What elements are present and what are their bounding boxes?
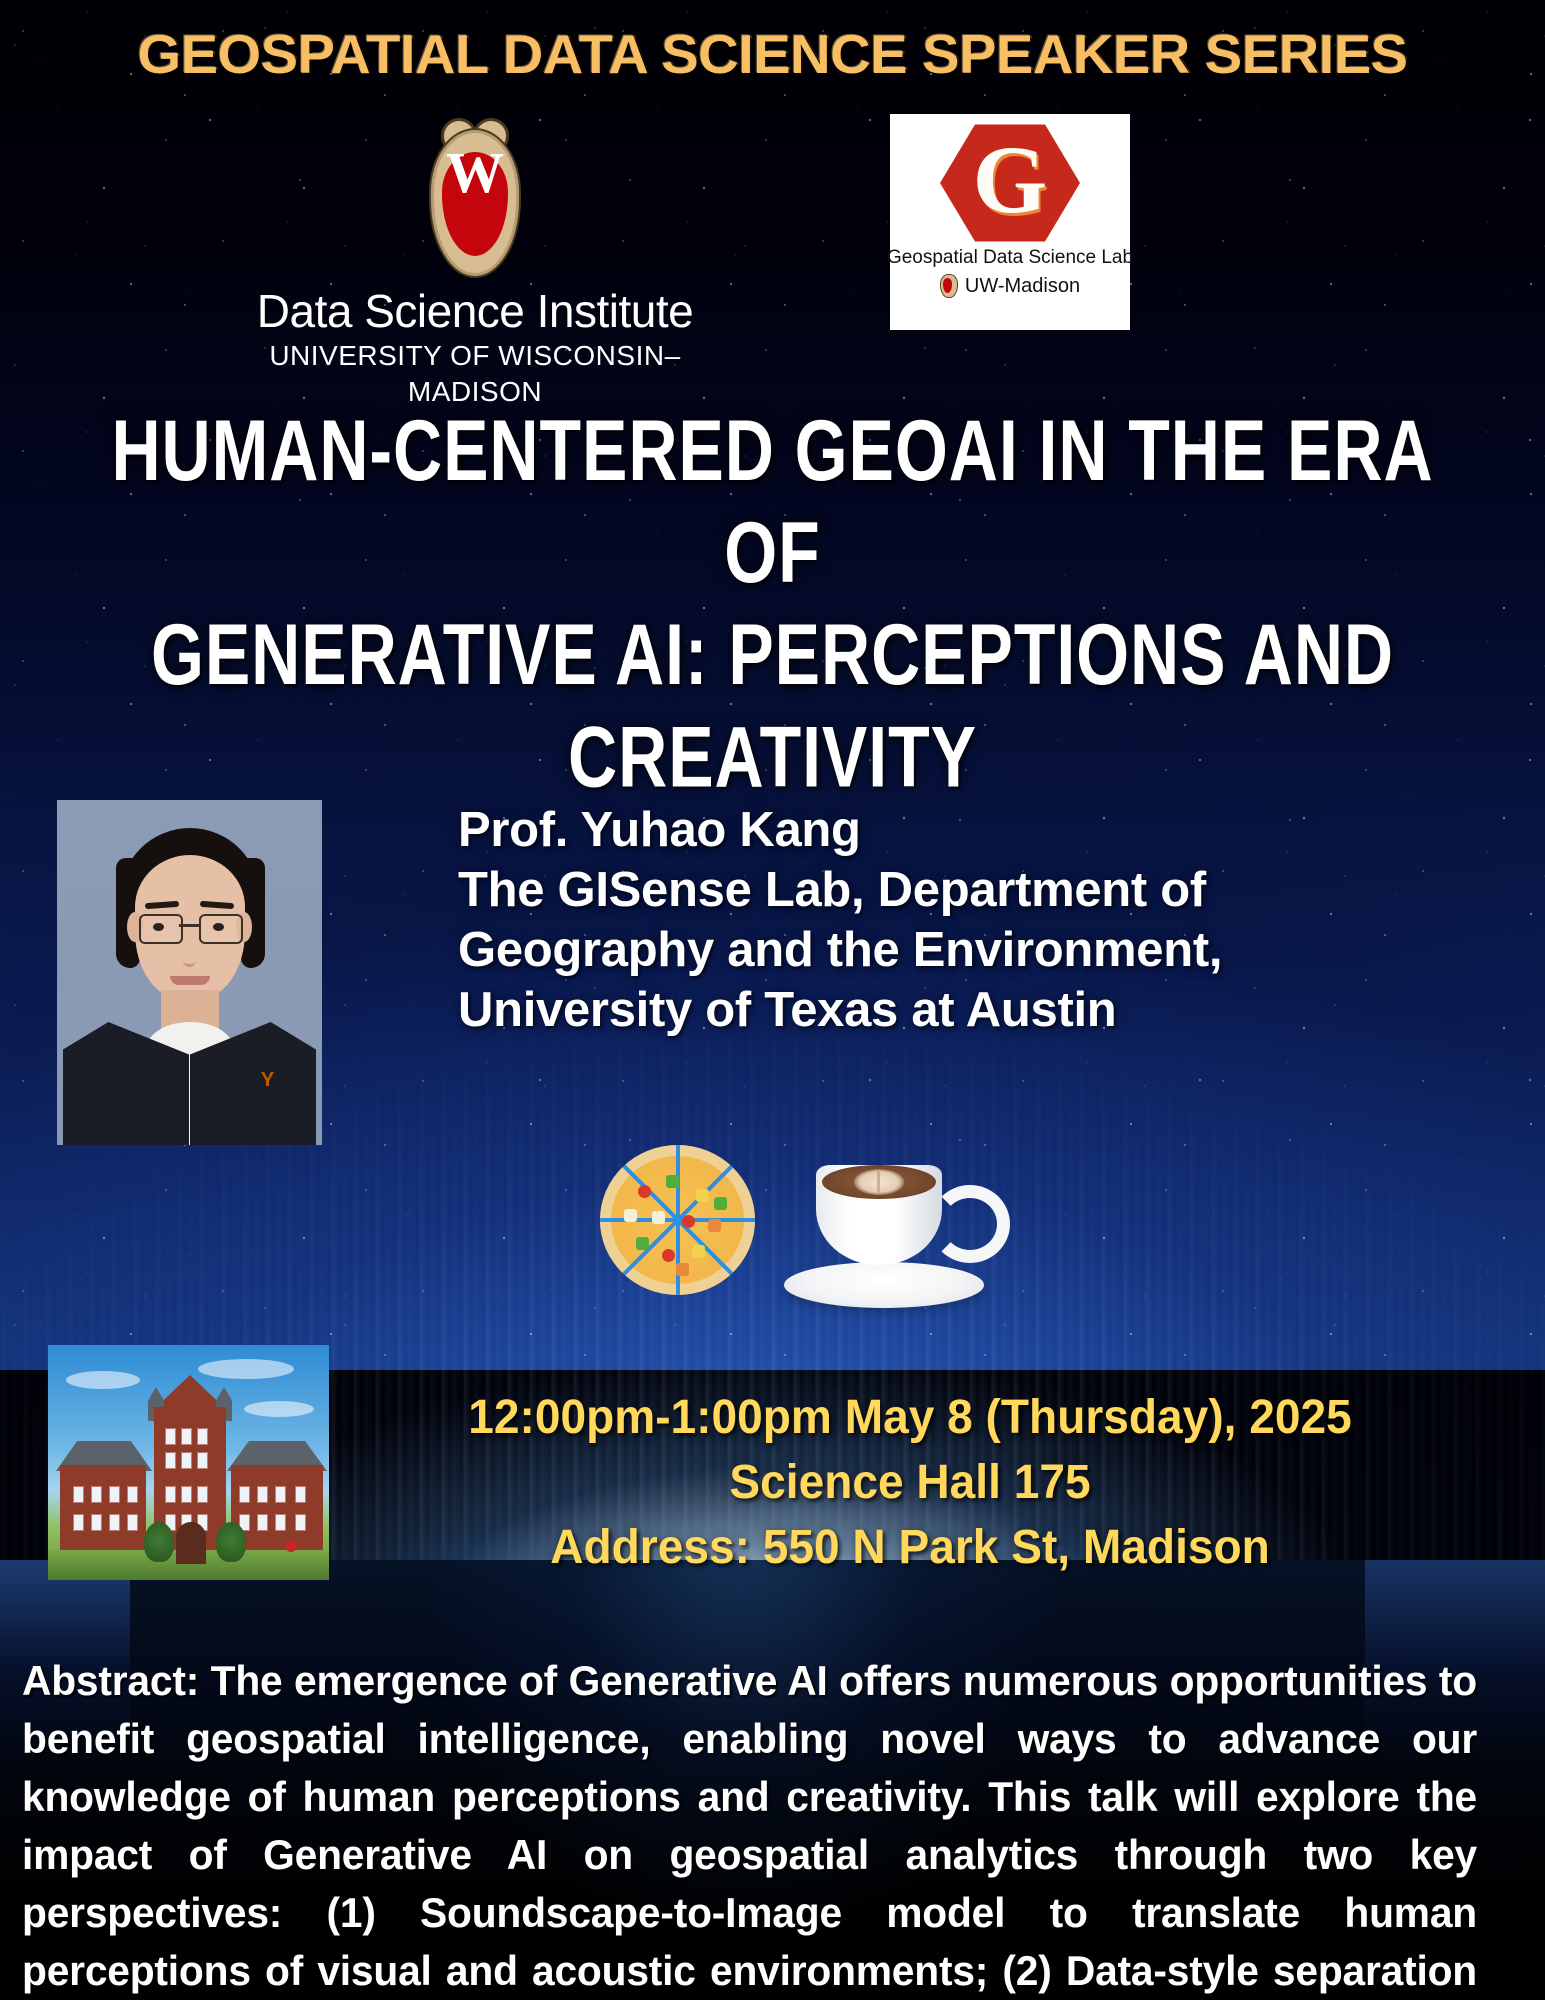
building-window (296, 1487, 305, 1502)
talk-title-line-2: GENERATIVE AI: PERCEPTIONS AND CREATIVIT… (89, 604, 1455, 808)
pizza-topping (624, 1209, 637, 1222)
crest-letter: W (429, 144, 521, 202)
stop-sign-icon (285, 1540, 297, 1552)
logo-row: W Data Science Institute UNIVERSITY OF W… (0, 128, 1545, 348)
data-science-institute-logo: W Data Science Institute UNIVERSITY OF W… (255, 128, 695, 410)
dsi-name: Data Science Institute (255, 284, 695, 338)
series-header-title: GEOSPATIAL DATA SCIENCE SPEAKER SERIES (0, 22, 1545, 86)
uw-crest-icon: W (429, 128, 521, 278)
portrait-nose (183, 942, 196, 967)
abstract-text: Abstract: The emergence of Generative AI… (22, 1652, 1477, 2000)
building-window (92, 1487, 101, 1502)
pizza-topping (714, 1197, 727, 1210)
pizza-topping (652, 1211, 665, 1224)
gdsl-affiliation-row: UW-Madison (940, 273, 1080, 299)
building-window (276, 1515, 285, 1530)
building-tree (216, 1522, 246, 1562)
science-hall-photo (48, 1345, 329, 1580)
talk-title-line-1: HUMAN-CENTERED GEOAI IN THE ERA OF (89, 400, 1455, 604)
building-window (240, 1487, 249, 1502)
pizza-topping (662, 1249, 675, 1262)
pizza-topping (638, 1185, 651, 1198)
building-window (296, 1515, 305, 1530)
hexagon-letter: G (940, 122, 1080, 244)
building-window (198, 1429, 207, 1444)
building-window (128, 1515, 137, 1530)
building-entry (176, 1522, 206, 1564)
gdsl-lab-name: Geospatial Data Science Lab (887, 246, 1133, 270)
event-address: Address: 550 N Park St, Madison (353, 1515, 1467, 1580)
portrait-glasses-right (199, 914, 243, 944)
coffee-saucer (784, 1262, 984, 1308)
pizza-topping (666, 1175, 679, 1188)
building-window (198, 1487, 207, 1502)
pizza-topping (636, 1237, 649, 1250)
speaker-affiliation-2: Geography and the Environment, (458, 920, 1478, 980)
photo-cloud (244, 1401, 314, 1417)
building-window (276, 1487, 285, 1502)
photo-cloud (198, 1359, 294, 1379)
hexagon-g-icon: G (940, 122, 1080, 244)
building-window (92, 1515, 101, 1530)
pizza-topping (692, 1245, 705, 1258)
building-window (74, 1487, 83, 1502)
speaker-affiliation-3: University of Texas at Austin (458, 980, 1478, 1040)
building-window (182, 1453, 191, 1468)
event-datetime: 12:00pm-1:00pm May 8 (Thursday), 2025 (353, 1385, 1467, 1450)
portrait-mouth (170, 976, 210, 985)
building-window (166, 1453, 175, 1468)
event-details: 12:00pm-1:00pm May 8 (Thursday), 2025 Sc… (330, 1385, 1490, 1580)
speaker-info: Prof. Yuhao Kang The GISense Lab, Depart… (458, 800, 1478, 1040)
building-window (182, 1429, 191, 1444)
building-window (198, 1453, 207, 1468)
building-window (182, 1487, 191, 1502)
pizza-topping (708, 1219, 721, 1232)
pizza-icon (600, 1145, 755, 1295)
building-window (128, 1487, 137, 1502)
event-room: Science Hall 175 (353, 1450, 1467, 1515)
event-poster: GEOSPATIAL DATA SCIENCE SPEAKER SERIES W… (0, 0, 1545, 2000)
building-window (74, 1515, 83, 1530)
refreshments-graphics (600, 1135, 1000, 1310)
portrait-glasses-left (139, 914, 183, 944)
building-window (110, 1515, 119, 1530)
photo-cloud (66, 1371, 140, 1389)
geospatial-data-science-lab-logo: G Geospatial Data Science Lab UW-Madison (890, 114, 1130, 330)
mini-uw-crest-icon (940, 274, 958, 298)
speaker-name: Prof. Yuhao Kang (458, 800, 1478, 860)
speaker-portrait (57, 800, 322, 1145)
coffee-handle (930, 1185, 1010, 1263)
gdsl-affiliation: UW-Madison (965, 273, 1080, 299)
latte-art (854, 1169, 904, 1195)
building-window (166, 1429, 175, 1444)
building-tree (144, 1522, 174, 1562)
building-window (110, 1487, 119, 1502)
building-window (258, 1515, 267, 1530)
talk-title: HUMAN-CENTERED GEOAI IN THE ERA OF GENER… (62, 400, 1483, 808)
pizza-topping (682, 1215, 695, 1228)
coffee-cup-icon (778, 1135, 993, 1310)
building-window (258, 1487, 267, 1502)
pizza-topping (696, 1189, 709, 1202)
speaker-affiliation-1: The GISense Lab, Department of (458, 860, 1478, 920)
portrait-glasses-bridge (179, 924, 199, 927)
pizza-topping (676, 1263, 689, 1276)
building-window (166, 1487, 175, 1502)
